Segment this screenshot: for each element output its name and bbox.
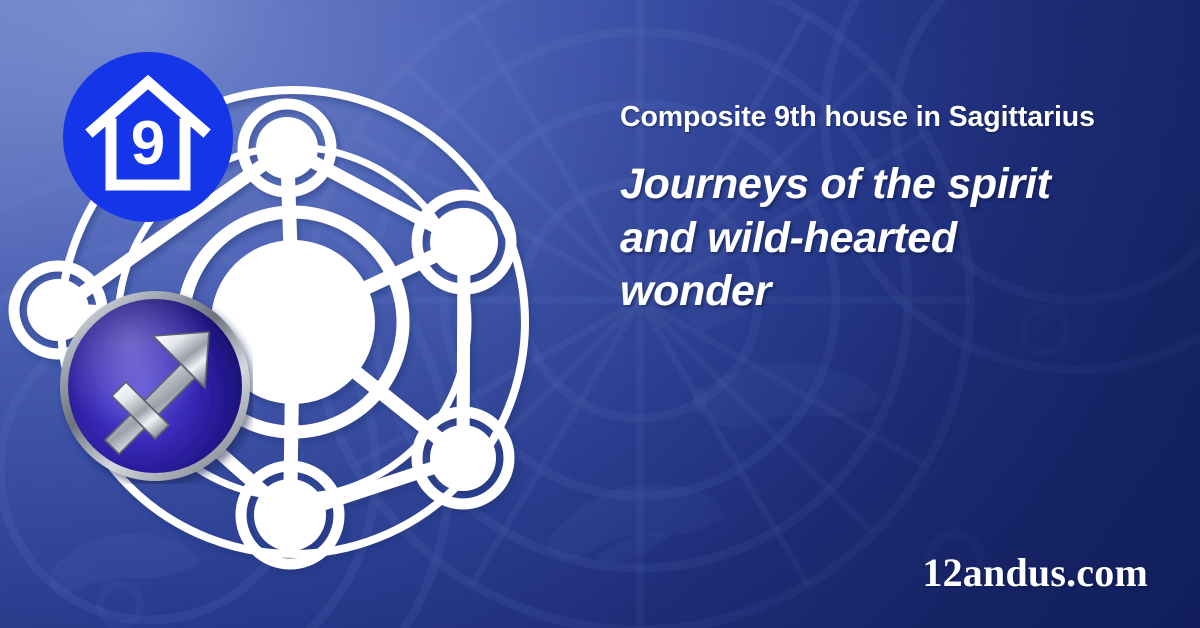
orb-gloss	[68, 299, 242, 473]
brand-wordmark[interactable]: 12andus.com	[922, 549, 1148, 596]
tagline-line-1: Journeys of the spirit	[620, 158, 1165, 211]
house-number: 9	[131, 109, 165, 178]
sagittarius-sign-orb	[57, 288, 253, 484]
tagline: Journeys of the spirit and wild-hearted …	[620, 158, 1165, 318]
tagline-line-2: and wild-hearted	[620, 212, 1165, 265]
house-number-badge: 9	[63, 52, 233, 222]
tagline-line-3: wonder	[620, 265, 1165, 318]
page-title: Composite 9th house in Sagittarius	[620, 100, 1165, 134]
zodiac-promo-card: 9	[0, 0, 1200, 628]
text-block: Composite 9th house in Sagittarius Journ…	[620, 100, 1165, 318]
